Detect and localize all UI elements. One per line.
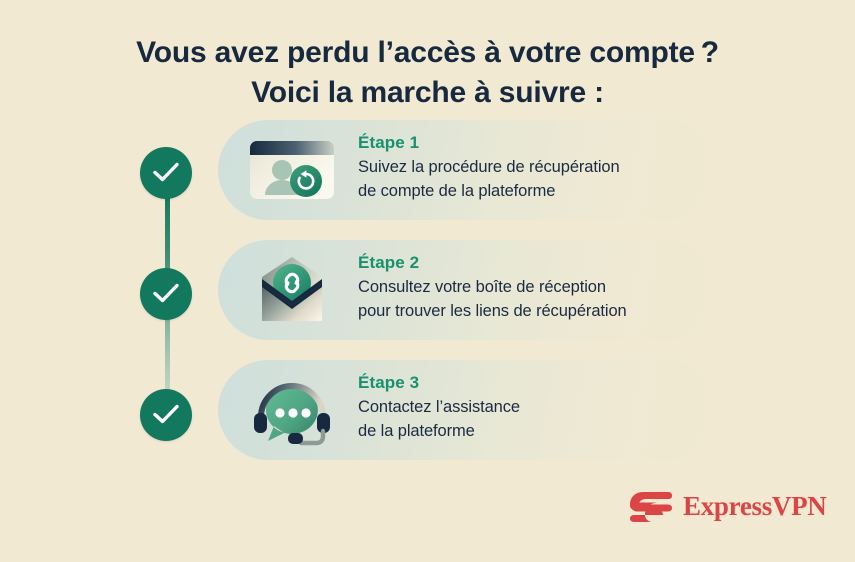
expressvpn-logo: ExpressVPN xyxy=(629,487,801,527)
step-card-3: Étape 3 Contactez l’assistance de la pla… xyxy=(218,360,715,460)
chat-bubble-headset-icon xyxy=(244,373,340,447)
step-card-1: Étape 1 Suivez la procédure de récupérat… xyxy=(218,120,715,220)
steps-timeline xyxy=(140,145,196,455)
step-1-label: Étape 1 xyxy=(358,132,701,153)
expressvpn-e-mark-icon xyxy=(629,490,673,524)
step-3-description: Contactez l’assistance de la plateforme xyxy=(358,396,701,443)
check-icon xyxy=(151,160,181,186)
title-line-2: Voici la marche à suivre : xyxy=(0,73,855,113)
id-card-account-recovery-icon xyxy=(244,133,340,207)
infographic-canvas: Vous avez perdu l’accès à votre compte ?… xyxy=(0,0,855,562)
step-2-description: Consultez votre boîte de réception pour … xyxy=(358,276,701,323)
step-2-check-marker xyxy=(140,268,192,320)
page-title: Vous avez perdu l’accès à votre compte ?… xyxy=(0,33,855,113)
expressvpn-wordmark: ExpressVPN xyxy=(683,489,827,523)
step-3-label: Étape 3 xyxy=(358,372,701,393)
step-3-check-marker xyxy=(140,389,192,441)
step-1-check-marker xyxy=(140,147,192,199)
step-card-2: Étape 2 Consultez votre boîte de récepti… xyxy=(218,240,715,340)
step-3-text: Étape 3 Contactez l’assistance de la pla… xyxy=(358,372,701,443)
check-icon xyxy=(151,402,181,428)
step-2-text: Étape 2 Consultez votre boîte de récepti… xyxy=(358,252,701,323)
step-2-label: Étape 2 xyxy=(358,252,701,273)
step-1-text: Étape 1 Suivez la procédure de récupérat… xyxy=(358,132,701,203)
title-line-1: Vous avez perdu l’accès à votre compte ? xyxy=(0,33,855,73)
check-icon xyxy=(151,281,181,307)
step-1-description: Suivez la procédure de récupération de c… xyxy=(358,156,701,203)
open-envelope-link-icon xyxy=(244,253,340,327)
